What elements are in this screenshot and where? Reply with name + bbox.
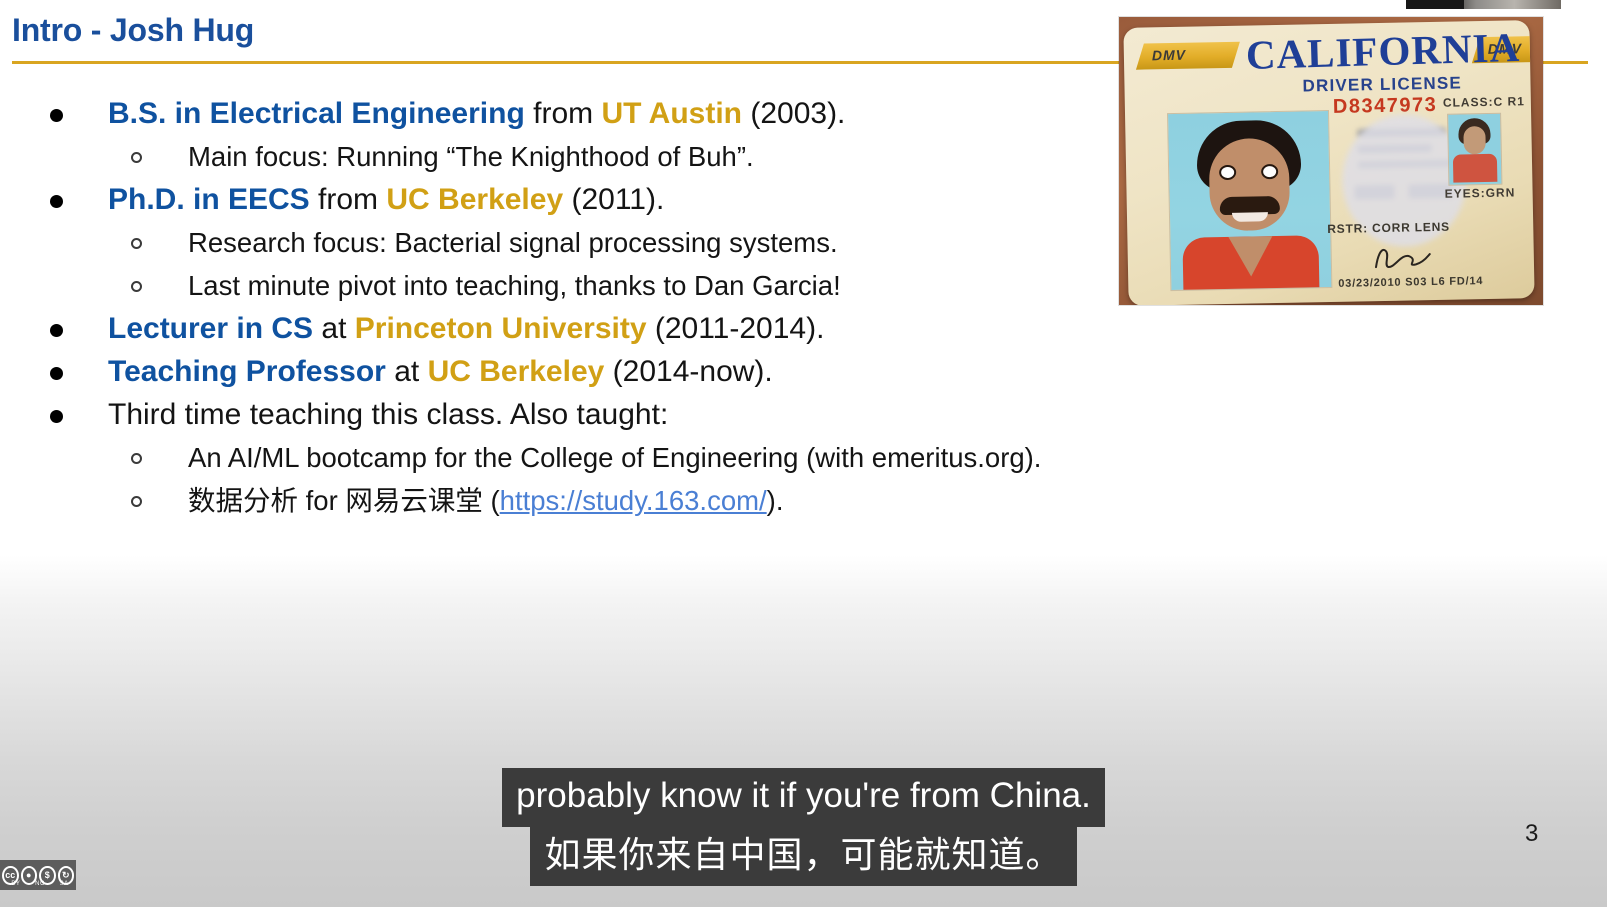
thumb-shirt (1453, 154, 1498, 183)
bullet-disc-icon (50, 324, 63, 337)
license-number: D8347973 (1333, 94, 1438, 119)
dmv-logo-left-text: DMV (1152, 47, 1186, 64)
bullet-text-segment: Ph.D. in EECS (108, 183, 310, 216)
slide-canvas: Intro - Josh Hug B.S. in Electrical Engi… (0, 0, 1607, 907)
bullet-item-level-1: Teaching Professor at UC Berkeley (2014-… (0, 350, 1320, 393)
caption-text-english: probably know it if you're from China. (502, 768, 1105, 827)
cc-term-label: NC (35, 881, 45, 887)
bullet-text-segment: (2011-2014). (647, 312, 825, 345)
bullet-text-segment: at (386, 355, 428, 388)
bullet-text-segment: Princeton University (355, 312, 647, 345)
cc-term-label: SA (60, 881, 69, 887)
license-signature (1372, 244, 1434, 271)
creative-commons-badge[interactable]: cc ● $ ↻ BYNCSA (0, 860, 76, 890)
license-class-label: CLASS:C R1 (1443, 94, 1525, 110)
bullet-disc-icon (50, 195, 63, 208)
bullet-text-segment: An AI/ML bootcamp for the College of Eng… (188, 442, 1041, 473)
bullet-text-segment: (2003). (742, 97, 845, 130)
webcam-dark-region (1406, 0, 1464, 9)
caption-row-chinese: 如果你来自中国，可能就知道。 (0, 827, 1607, 886)
bullet-text-segment: Main focus: Running “The Knighthood of B… (188, 141, 754, 172)
bullet-circle-icon (131, 152, 142, 163)
bullet-text-segment: Third time teaching this class. Also tau… (108, 398, 668, 431)
portrait-mouth (1232, 212, 1268, 222)
page-title: Intro - Josh Hug (12, 12, 254, 49)
bullet-circle-icon (131, 281, 142, 292)
bullet-text-segment: B.S. in Electrical Engineering (108, 97, 525, 130)
caption-row-english: probably know it if you're from China. (0, 768, 1607, 827)
bullet-text-segment: 数据分析 for 网易云课堂 ( (188, 485, 500, 516)
bullet-text-segment: Research focus: Bacterial signal process… (188, 227, 838, 258)
bullet-text-segment: (2011). (563, 183, 664, 216)
cc-term-label: BY (11, 881, 20, 887)
license-state-label: CALIFORNIA (1245, 23, 1521, 79)
license-restriction-label: RSTR: CORR LENS (1327, 220, 1450, 236)
bullet-disc-icon (50, 109, 63, 122)
license-portrait (1167, 110, 1332, 291)
cc-terms-labels: BYNCSA (4, 881, 76, 887)
bullet-text-segment: at (313, 312, 355, 345)
bullet-text-segment: from (310, 183, 387, 216)
drivers-license-photo: DMV DMV CALIFORNIA DRIVER LICENSE D83479… (1119, 17, 1543, 305)
bullet-text-segment: (2014-now). (604, 355, 772, 388)
license-card: DMV DMV CALIFORNIA DRIVER LICENSE D83479… (1123, 20, 1534, 305)
bullet-circle-icon (131, 496, 142, 507)
thumb-face (1463, 126, 1486, 154)
bullet-disc-icon (50, 367, 63, 380)
page-number: 3 (1525, 820, 1538, 848)
license-secondary-photo (1447, 113, 1502, 186)
license-eyes-label: EYES:GRN (1444, 185, 1515, 200)
bullet-text-segment: Lecturer in CS (108, 312, 313, 345)
caption-text-chinese: 如果你来自中国，可能就知道。 (530, 827, 1076, 886)
bullet-item-level-2: An AI/ML bootcamp for the College of Eng… (0, 436, 1320, 479)
bullet-item-level-1: Third time teaching this class. Also tau… (0, 393, 1320, 436)
bullet-text-segment: ). (767, 485, 784, 516)
license-type-label: DRIVER LICENSE (1302, 73, 1462, 96)
caption-overlay: probably know it if you're from China. 如… (0, 768, 1607, 886)
bullet-circle-icon (131, 238, 142, 249)
license-issue-footer: 03/23/2010 S03 L6 FD/14 (1338, 275, 1483, 290)
bullet-text-segment: Last minute pivot into teaching, thanks … (188, 270, 841, 301)
bullet-item-level-1: Lecturer in CS at Princeton University (… (0, 307, 1320, 350)
webcam-video-sliver (1406, 0, 1561, 9)
bullet-item-level-2: 数据分析 for 网易云课堂 (https://study.163.com/). (0, 479, 1320, 522)
bullet-disc-icon (50, 410, 63, 423)
external-link[interactable]: https://study.163.com/ (500, 485, 767, 516)
bullet-text-segment: UT Austin (601, 97, 742, 130)
bullet-circle-icon (131, 453, 142, 464)
bullet-text-segment: from (525, 97, 602, 130)
bullet-text-segment: UC Berkeley (386, 183, 563, 216)
bullet-text-segment: Teaching Professor (108, 355, 386, 388)
bullet-text-segment: UC Berkeley (428, 355, 605, 388)
